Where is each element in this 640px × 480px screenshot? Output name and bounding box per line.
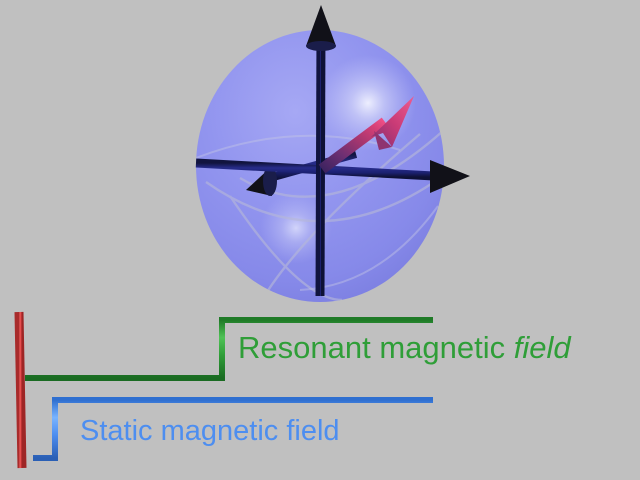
z-axis-cone-base <box>306 41 336 51</box>
resonant-label-plain: Resonant magnetic <box>238 330 514 365</box>
static-magnetic-field-label: Static magnetic field <box>80 415 340 448</box>
z-axis-arrowhead-icon <box>306 5 336 46</box>
diagram-canvas: Resonant magnetic field Static magnetic … <box>0 0 640 480</box>
x-axis-arrowhead-icon <box>430 160 470 193</box>
axis-bar-red <box>19 312 22 468</box>
static-label-plain: Static magnetic field <box>80 415 340 447</box>
resonant-label-italic: field <box>514 330 571 365</box>
bloch-sphere-group <box>196 5 470 302</box>
resonant-magnetic-field-label: Resonant magnetic field <box>238 330 571 366</box>
scene-graphics <box>0 0 640 480</box>
